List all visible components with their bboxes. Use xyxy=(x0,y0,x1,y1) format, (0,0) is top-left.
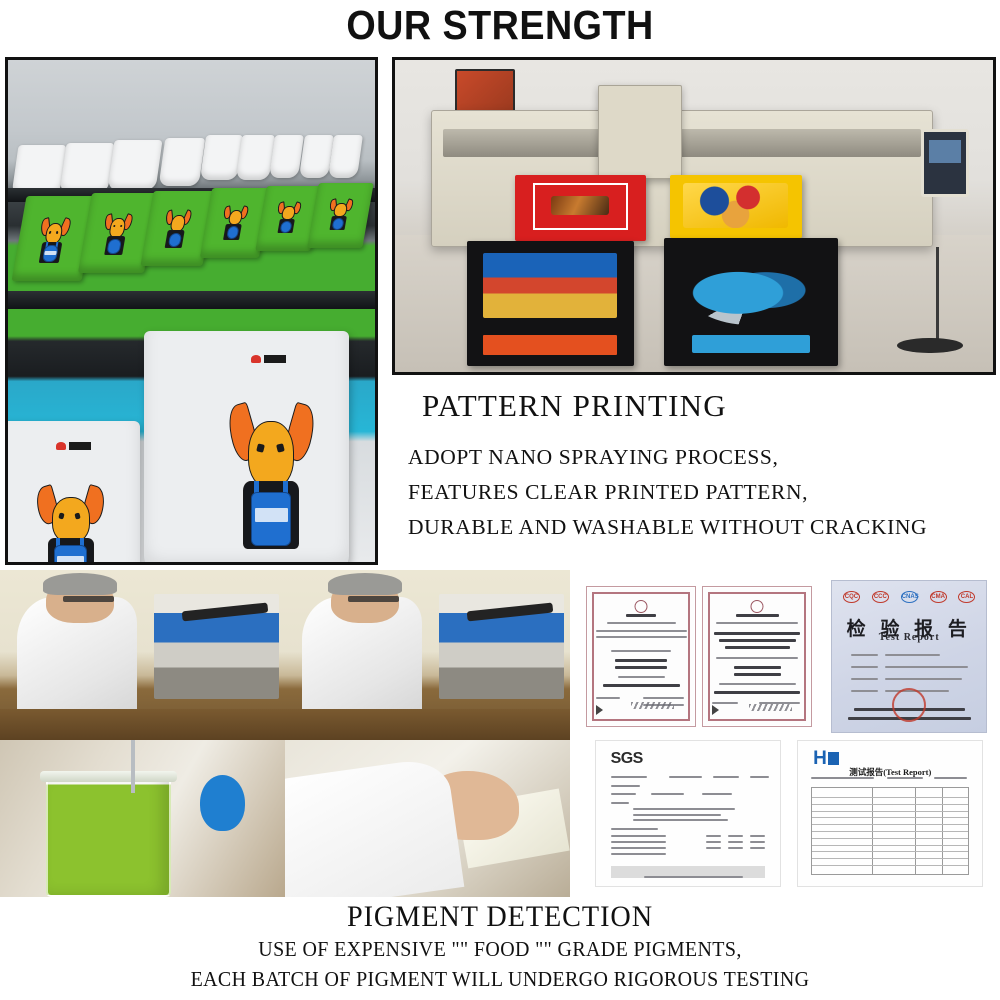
certificate-iso-cn xyxy=(586,586,696,727)
bull-mascot-icon xyxy=(99,211,134,259)
garment-junior-company xyxy=(467,241,634,366)
hlab-results-table xyxy=(811,787,969,874)
infographic-page: OUR STRENGTH xyxy=(0,0,1000,1000)
photo-technician-right xyxy=(285,570,570,740)
pattern-printing-lines: ADOPT NANO SPRAYING PROCESS, FEATURES CL… xyxy=(408,440,1000,545)
certificate-inspection-report: CQC CCC CNAS CMA CAL 检 验 报 告 Test Report xyxy=(831,580,987,734)
pattern-printing-line-1: ADOPT NANO SPRAYING PROCESS, xyxy=(408,440,1000,475)
stirring-rod xyxy=(131,740,135,793)
bull-mascot-icon xyxy=(219,203,249,242)
cqc-logo-icon: CQC xyxy=(843,591,860,603)
hlab-report-title: 测试报告(Test Report) xyxy=(798,766,982,778)
pigment-detection-section: PIGMENT DETECTION USE OF EXPENSIVE "" FO… xyxy=(0,900,1000,994)
certificate-seal-icon xyxy=(751,600,764,613)
pattern-printing-section: PATTERN PRINTING ADOPT NANO SPRAYING PRO… xyxy=(392,388,1000,545)
garment-red xyxy=(515,175,647,241)
shirt-white-top xyxy=(60,143,115,193)
photo-dtg-printer xyxy=(392,57,996,375)
certificate-iso-en xyxy=(702,586,812,727)
beaker-rim xyxy=(40,771,177,782)
certificate-arrow-icon xyxy=(596,705,603,715)
beaker-green-pigment xyxy=(46,775,171,897)
lab-bench xyxy=(285,709,570,740)
pigment-detection-line-1: USE OF EXPENSIVE "" FOOD "" GRADE PIGMEN… xyxy=(25,934,975,964)
control-tablet xyxy=(455,69,515,113)
certification-logos: CQC CCC CNAS CMA CAL xyxy=(843,591,976,603)
pigment-detection-heading: PIGMENT DETECTION xyxy=(30,900,970,934)
report-title-en: Test Report xyxy=(832,632,986,643)
lab-bench xyxy=(0,709,285,740)
certificates-panel: CQC CCC CNAS CMA CAL 检 验 报 告 Test Report… xyxy=(578,570,1000,897)
print-head xyxy=(598,85,682,179)
brand-logo-icon xyxy=(56,442,91,450)
conveyor-rail xyxy=(8,291,375,309)
pallet-green xyxy=(307,183,374,248)
pattern-printing-line-3: DURABLE AND WASHABLE WITHOUT CRACKING xyxy=(408,510,1000,545)
lab-photo-grid xyxy=(0,570,570,897)
sgs-logo: SGS xyxy=(611,750,643,768)
page-title: OUR STRENGTH xyxy=(40,0,960,50)
shirt-white-top xyxy=(159,138,206,186)
photo-production-line xyxy=(5,57,378,565)
printer-gantry xyxy=(443,129,921,157)
certificate-arrow-icon xyxy=(712,705,719,715)
technician-glasses-icon xyxy=(63,596,114,603)
pattern-printing-line-2: FEATURES CLEAR PRINTED PATTERN, xyxy=(408,475,1000,510)
brand-logo-icon xyxy=(251,355,286,363)
lab-coat-sleeve xyxy=(285,756,464,897)
garment-yellow xyxy=(670,175,802,237)
bull-mascot-icon xyxy=(37,479,105,565)
bull-mascot-icon xyxy=(274,200,302,236)
ccc-logo-icon: CCC xyxy=(872,591,889,603)
shirt-printed-foreground xyxy=(144,331,350,565)
photo-fabric-hand-test xyxy=(285,740,570,897)
garment-sharks xyxy=(664,238,837,366)
bull-mascot-icon xyxy=(161,207,194,251)
cma-logo-icon: CMA xyxy=(930,591,947,603)
printer-control-screen xyxy=(921,129,969,198)
bull-mascot-icon xyxy=(325,197,353,233)
certificate-seal-icon xyxy=(635,600,648,613)
cal-logo-icon: CAL xyxy=(958,591,975,603)
shirt-white-top xyxy=(199,135,242,180)
photo-technician-left xyxy=(0,570,285,740)
photo-green-beaker xyxy=(0,740,285,897)
pigment-detection-line-2: EACH BATCH OF PIGMENT WILL UNDERGO RIGOR… xyxy=(25,964,975,994)
shirt-printed-foreground xyxy=(5,421,140,565)
bull-mascot-icon xyxy=(230,394,312,563)
technician-hair xyxy=(43,573,117,595)
certificate-sgs-report: SGS xyxy=(595,740,781,887)
cnas-logo-icon: CNAS xyxy=(901,591,918,603)
bull-mascot-icon xyxy=(33,214,72,267)
certificate-hlab-report: H 测试报告(Test Report) xyxy=(797,740,983,887)
shirt-white-top xyxy=(107,140,162,190)
machine-blue-part xyxy=(200,775,246,832)
pattern-printing-heading: PATTERN PRINTING xyxy=(422,388,1000,424)
technician-glasses-icon xyxy=(348,596,399,603)
stand-pole xyxy=(936,247,939,347)
technician-hair xyxy=(328,573,402,595)
